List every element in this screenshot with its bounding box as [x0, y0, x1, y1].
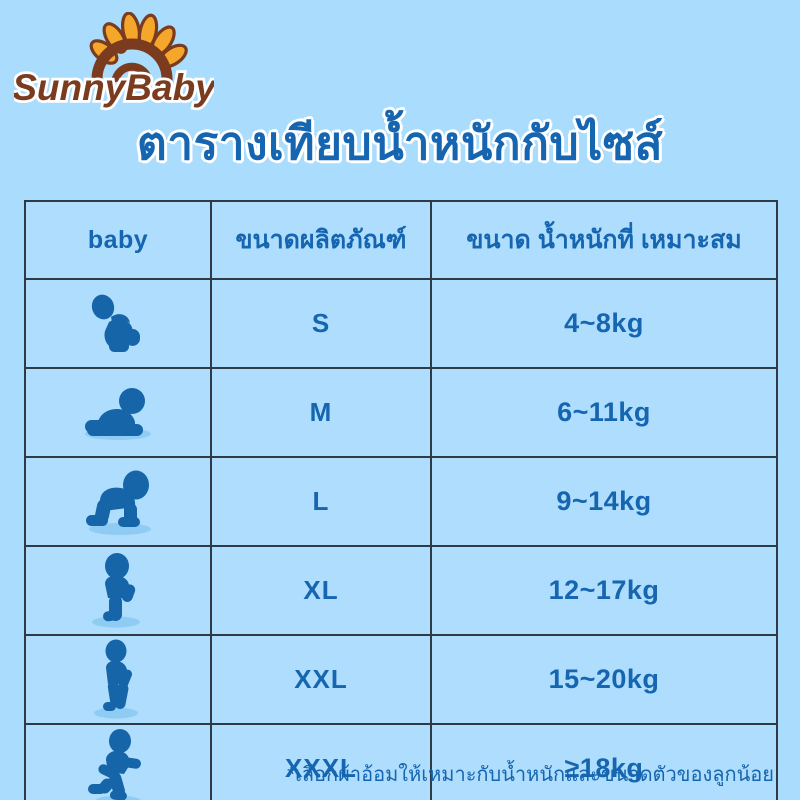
crawling-baby-icon — [74, 465, 162, 539]
row-weight-cell: 6~11kg — [431, 368, 777, 457]
row-size-cell: XXL — [211, 635, 431, 724]
row-weight-cell: 12~17kg — [431, 546, 777, 635]
lying-baby-icon — [73, 382, 163, 444]
size-chart-table: baby ขนาดผลิตภัณฑ์ ขนาด น้ำหนักที่ เหมาะ… — [24, 200, 778, 800]
row-icon-cell — [25, 368, 211, 457]
page-title: ตารางเทียบน้ำหนักกับไซส์ — [0, 116, 800, 171]
brand-logo: SunnyBaby — [14, 12, 214, 112]
table-row: L 9~14kg — [25, 457, 777, 546]
row-size-cell: L — [211, 457, 431, 546]
footnote: *เลือกผ้าอ้อมให้เหมาะกับน้ำหนักและขนาดตั… — [287, 758, 774, 790]
header-suitable-weight: ขนาด น้ำหนักที่ เหมาะสม — [431, 201, 777, 279]
table-row: S 4~8kg — [25, 279, 777, 368]
row-size-cell: S — [211, 279, 431, 368]
row-weight-cell: 4~8kg — [431, 279, 777, 368]
table-row: XL 12~17kg — [25, 546, 777, 635]
header-product-size: ขนาดผลิตภัณฑ์ — [211, 201, 431, 279]
header-baby: baby — [25, 201, 211, 279]
row-icon-cell — [25, 724, 211, 800]
row-size-cell: M — [211, 368, 431, 457]
row-size-cell: XL — [211, 546, 431, 635]
table-row: XXL 15~20kg — [25, 635, 777, 724]
row-icon-cell — [25, 546, 211, 635]
table-row: M 6~11kg — [25, 368, 777, 457]
row-icon-cell — [25, 457, 211, 546]
brand-wordmark: SunnyBaby — [14, 67, 214, 108]
row-icon-cell — [25, 279, 211, 368]
row-weight-cell: 9~14kg — [431, 457, 777, 546]
running-child-icon — [78, 728, 158, 800]
row-icon-cell — [25, 635, 211, 724]
sun-arch-icon: SunnyBaby — [14, 12, 214, 112]
newborn-curled-baby-icon — [81, 291, 155, 357]
table-header-row: baby ขนาดผลิตภัณฑ์ ขนาด น้ำหนักที่ เหมาะ… — [25, 201, 777, 279]
standing-toddler-icon — [83, 551, 153, 631]
walking-child-icon — [83, 638, 153, 722]
row-weight-cell: 15~20kg — [431, 635, 777, 724]
